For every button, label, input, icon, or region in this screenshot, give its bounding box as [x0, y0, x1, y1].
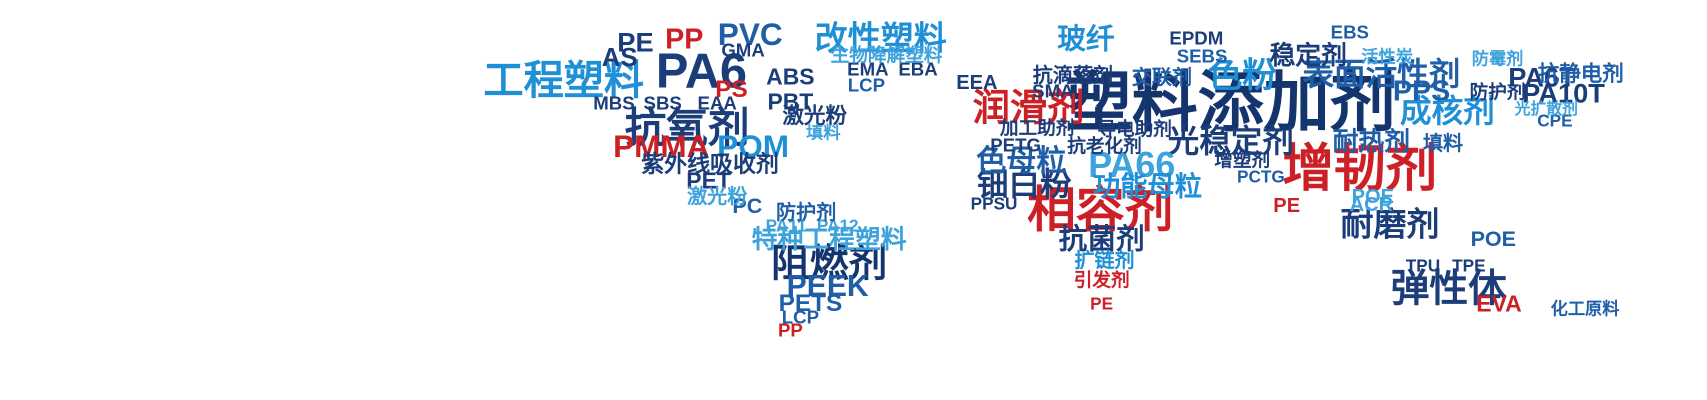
cloud-word[interactable]: SBS	[644, 95, 682, 114]
cloud-word[interactable]: 引发剂	[1074, 273, 1130, 292]
cloud-word[interactable]: 激光粉	[687, 186, 747, 206]
cloud-word[interactable]: AS	[602, 46, 638, 72]
cloud-word[interactable]: PP	[778, 322, 803, 341]
cloud-word[interactable]: EBS	[1331, 24, 1369, 43]
cloud-word[interactable]: 玻纤	[1057, 25, 1114, 54]
cloud-word[interactable]: 填料	[1423, 133, 1463, 153]
cloud-word[interactable]: PPSU	[971, 195, 1018, 212]
cloud-word[interactable]: 活性炭	[1361, 49, 1413, 66]
cloud-word[interactable]: 抗静电剂	[1538, 64, 1624, 86]
cloud-word[interactable]: EVA	[1476, 293, 1521, 316]
cloud-word[interactable]: TPU	[1406, 257, 1440, 274]
cloud-word[interactable]: EAA	[698, 95, 737, 114]
cloud-word[interactable]: 生物降解塑料	[831, 48, 943, 67]
cloud-word[interactable]: ACR	[1350, 195, 1394, 215]
cloud-word[interactable]: POE	[1471, 229, 1516, 251]
cloud-word[interactable]: 交联剂	[1132, 67, 1192, 87]
cloud-word[interactable]: 增塑剂	[1214, 153, 1270, 172]
cloud-word[interactable]: EEA	[956, 73, 997, 93]
cloud-word[interactable]: PE	[1273, 196, 1300, 216]
cloud-word[interactable]: 抗滴落剂	[1033, 65, 1113, 85]
cloud-word[interactable]: PP	[665, 26, 703, 55]
cloud-word[interactable]: 化工原料	[1551, 301, 1620, 318]
cloud-word[interactable]: ABS	[766, 66, 814, 89]
cloud-word[interactable]: 稳定剂	[1270, 44, 1347, 70]
cloud-word[interactable]: PPS	[1393, 78, 1450, 107]
cloud-word[interactable]: 加工助剂	[1000, 121, 1075, 140]
cloud-word[interactable]: SEBS	[1177, 48, 1228, 67]
cloud-word[interactable]: TPE	[1452, 257, 1485, 274]
cloud-word[interactable]: PE	[1090, 295, 1113, 312]
cloud-word[interactable]: 防护剂	[776, 202, 836, 222]
cloud-word[interactable]: 扩链剂	[1074, 250, 1134, 270]
word-cloud-canvas: 塑料添加剂增韧剂相容剂工程塑料抗氧剂PA6润滑剂阻燃剂弹性体表面活性剂光稳定剂改…	[0, 0, 1707, 400]
cloud-word[interactable]: 防霉剂	[1472, 51, 1524, 68]
cloud-word[interactable]: 耐热剂	[1333, 130, 1410, 156]
cloud-word[interactable]: 填料	[806, 125, 840, 142]
cloud-word[interactable]: 光扩散剂	[1515, 101, 1578, 117]
cloud-word[interactable]: GMA	[721, 42, 764, 61]
cloud-word[interactable]: 功能母粒	[1093, 173, 1202, 200]
cloud-word[interactable]: MBS	[593, 95, 634, 114]
cloud-word[interactable]: 抗老化剂	[1067, 139, 1142, 158]
